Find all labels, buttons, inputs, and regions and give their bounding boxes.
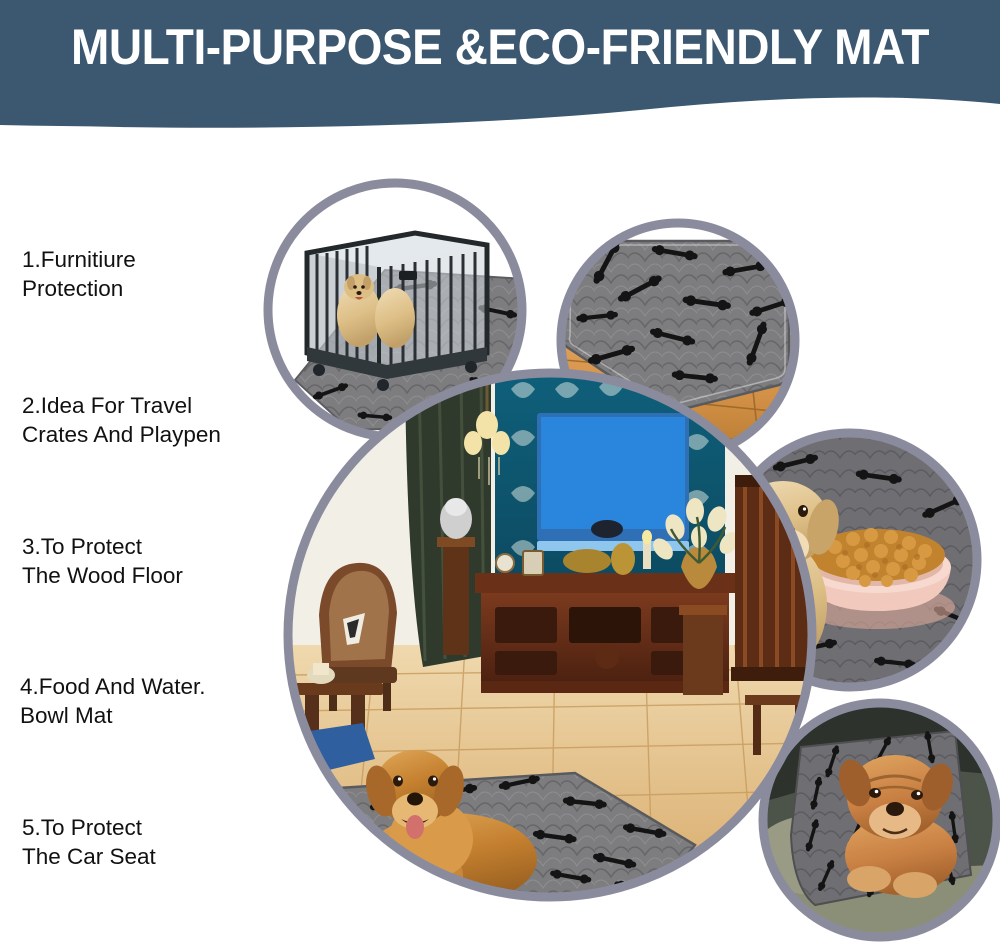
feature-item-2: 2.Idea For Travel Crates And Playpen: [22, 391, 221, 449]
feature-item-4: 4.Food And Water. Bowl Mat: [20, 672, 206, 730]
television: [537, 413, 689, 551]
feature-item-3: 3.To Protect The Wood Floor: [22, 532, 183, 590]
collage-svg: [255, 175, 1000, 946]
photo-collage: [255, 175, 1000, 946]
feature-item-5: 5.To Protect The Car Seat: [22, 813, 156, 871]
page-title: MULTI-PURPOSE &ECO-FRIENDLY MAT: [40, 22, 960, 72]
infographic-page: MULTI-PURPOSE &ECO-FRIENDLY MAT 1.Furnit…: [0, 0, 1000, 946]
circle-photo-living-room: [283, 373, 812, 925]
header-banner: MULTI-PURPOSE &ECO-FRIENDLY MAT: [0, 0, 1000, 140]
feature-item-1: 1.Furnitiure Protection: [22, 245, 136, 303]
